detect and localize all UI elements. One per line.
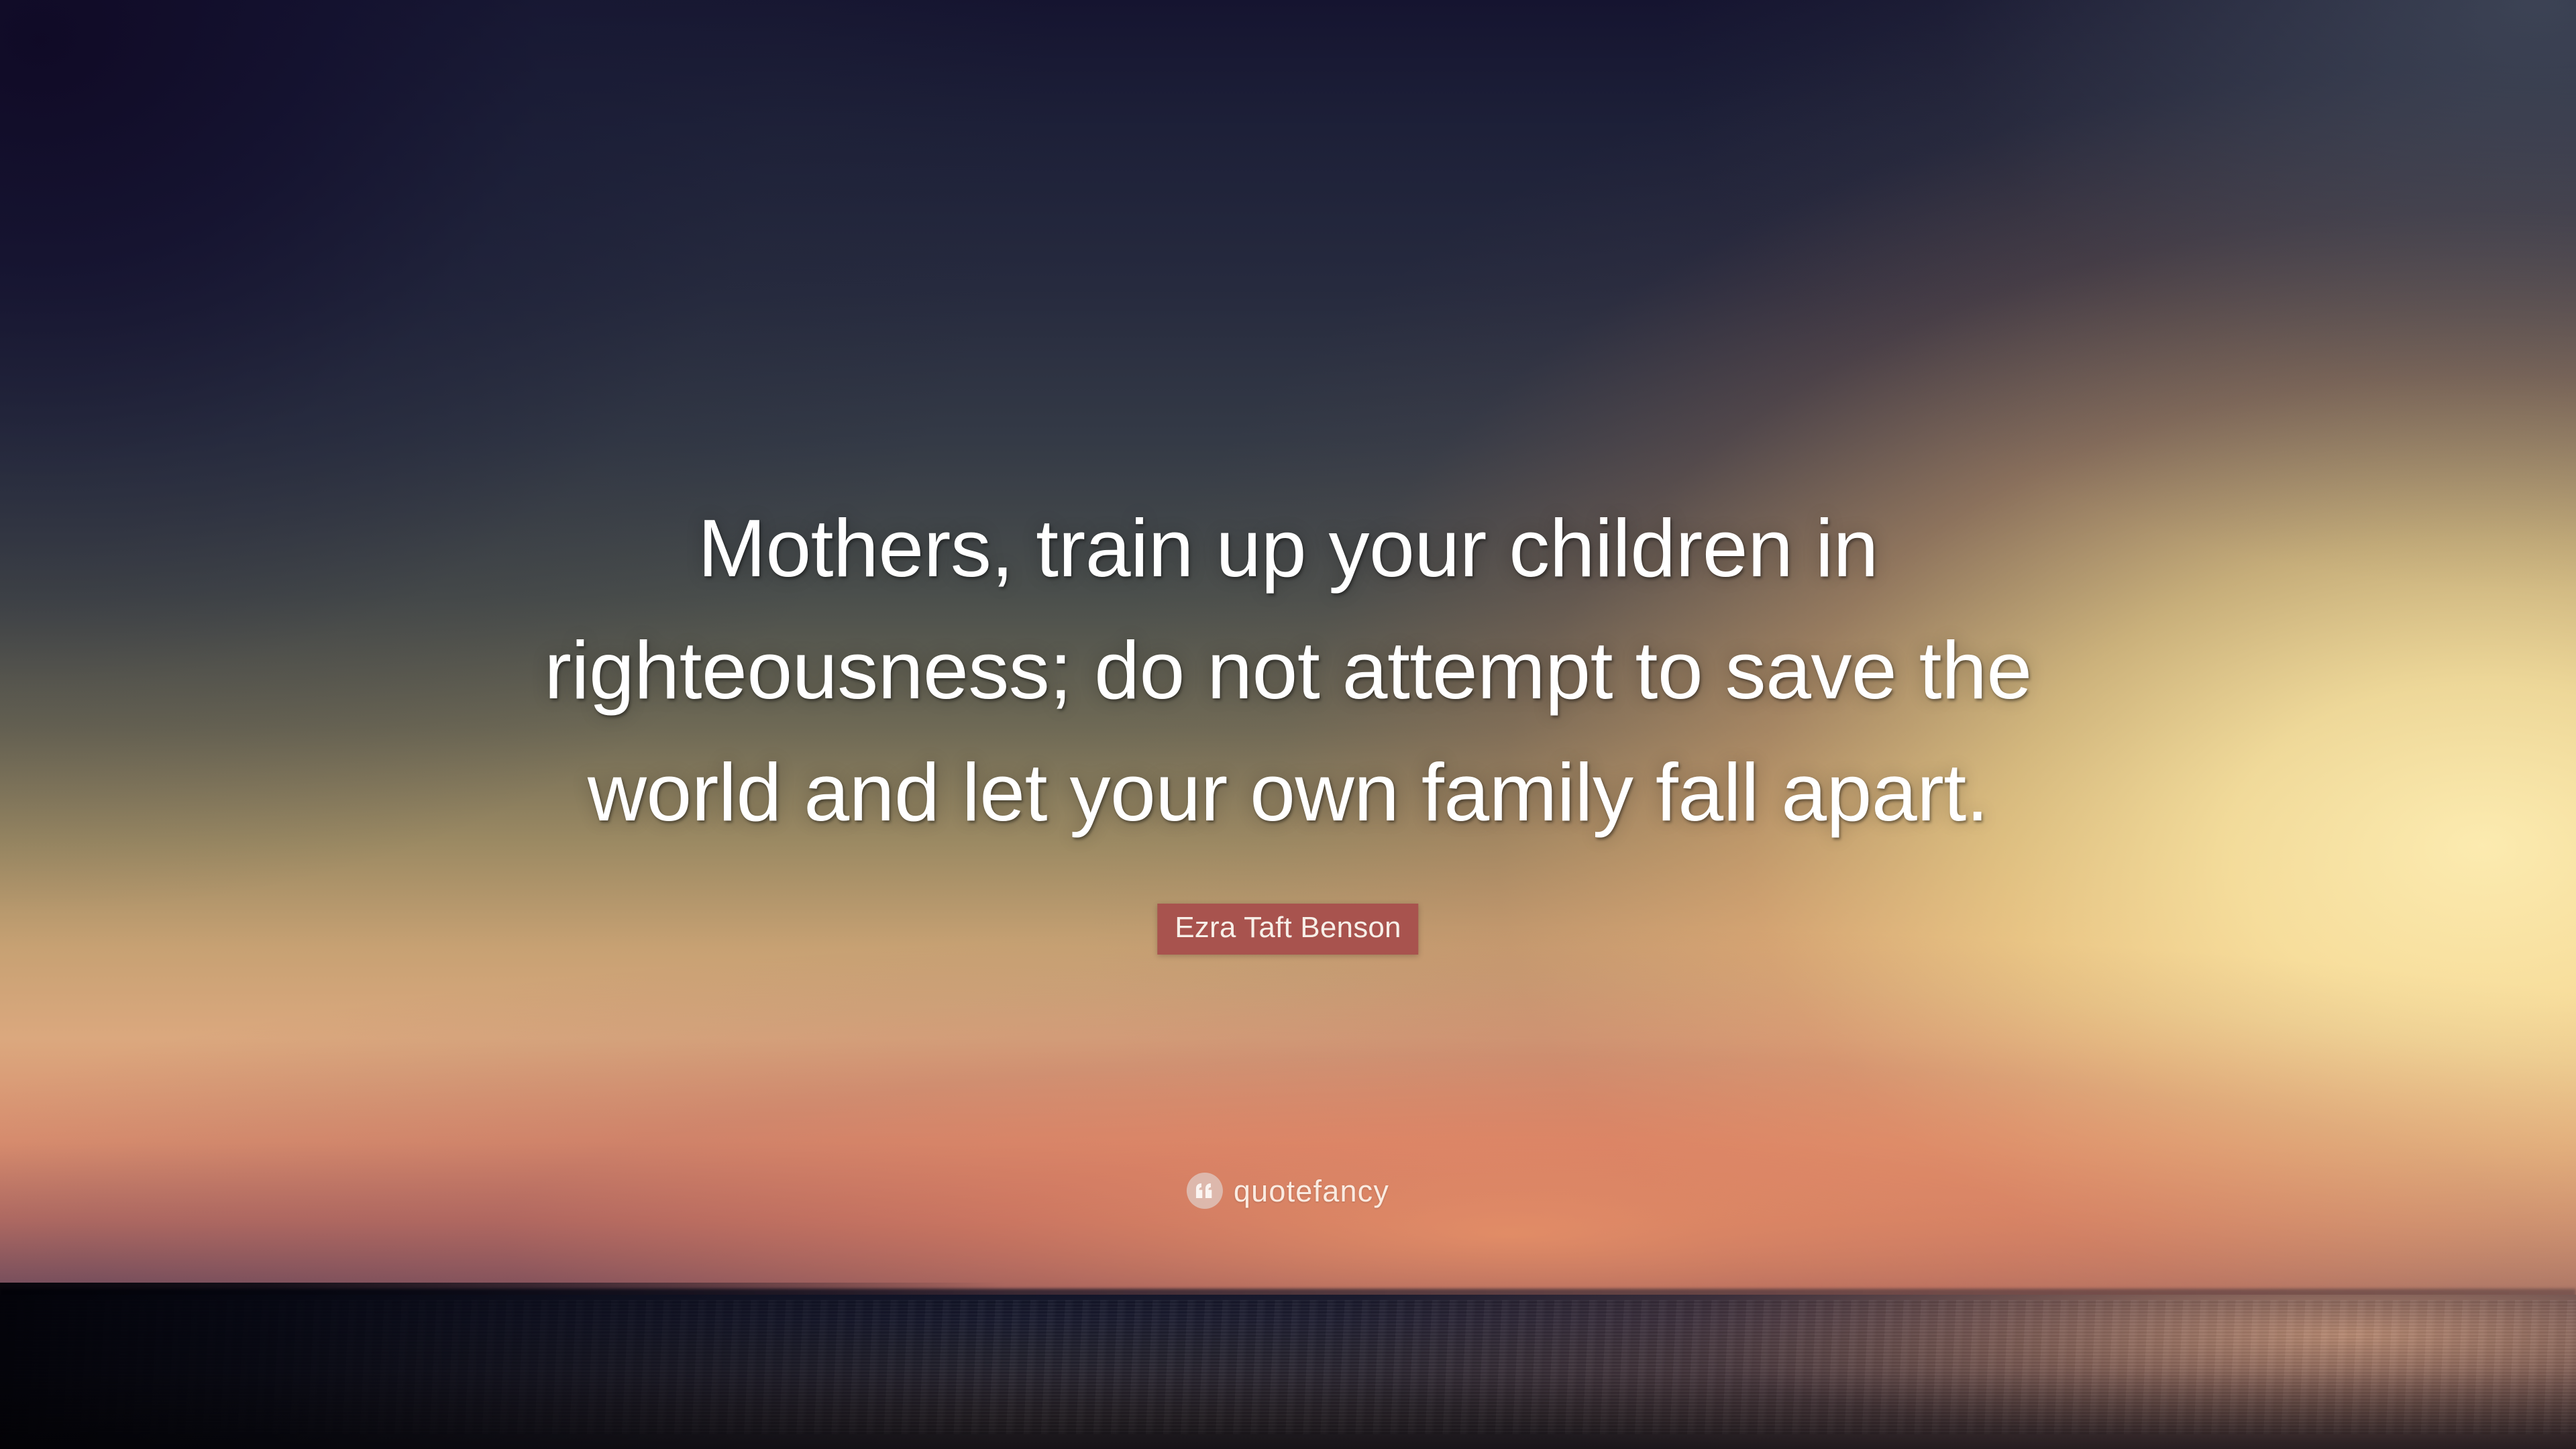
quote-marks-icon [1187,1173,1223,1209]
quotefancy-watermark[interactable]: quotefancy [1187,1173,1389,1209]
quote-text-block: Mothers, train up your children in right… [510,487,2066,853]
quote-line-2: righteousness; do not attempt to save th… [510,609,2066,731]
quote-line-3: world and let your own family fall apart… [510,731,2066,853]
overlay-content: Mothers, train up your children in right… [0,0,2576,1449]
quote-line-1: Mothers, train up your children in [510,487,2066,609]
quotefancy-wordmark: quotefancy [1234,1176,1389,1206]
author-attribution-badge: Ezra Taft Benson [1157,904,1418,955]
wallpaper-canvas: Mothers, train up your children in right… [0,0,2576,1449]
